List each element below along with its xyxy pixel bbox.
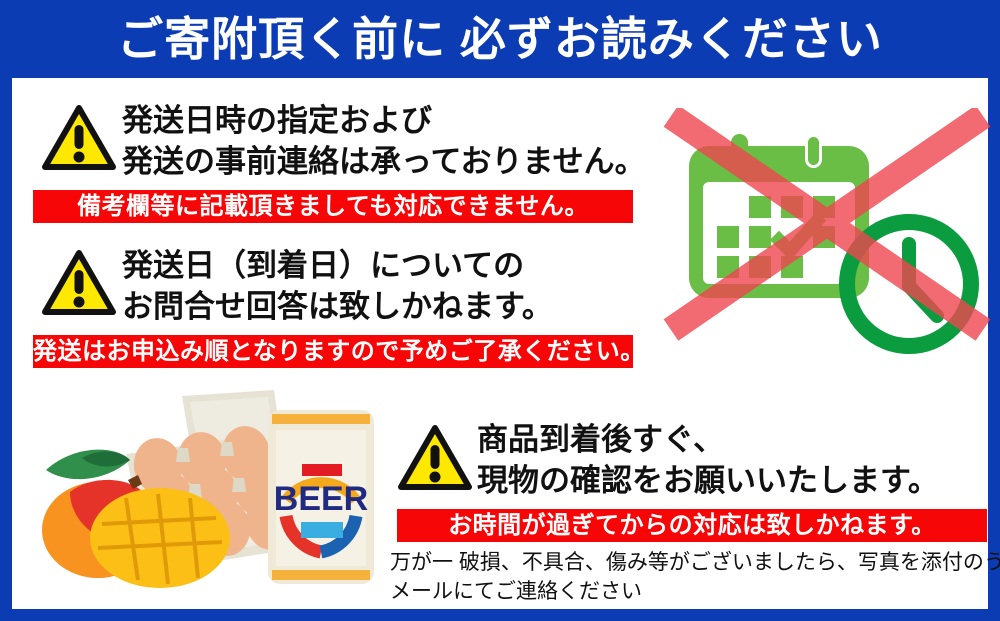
warning-line: お問合せ回答は致しかねます。 [122,286,553,327]
warning-text-shipping-date: 発送日時の指定および 発送の事前連絡は承っておりません。 [122,100,646,182]
warning-line: 発送日（到着日）についての [122,245,553,286]
notice-banner-page: ご寄附頂く前に 必ずお読みください 発送日時の指定および 発送の事前連絡は承って… [0,0,1000,621]
warning-text-check-on-arrival: 商品到着後すぐ、 現物の確認をお願いいたします。 [477,419,939,501]
warning-line: 現物の確認をお願いいたします。 [477,460,939,501]
warning-triangle-icon [42,105,116,171]
beer-can-label: BEER [274,480,368,518]
red-banner-arrival-inquiry: 発送はお申込み順となりますので予めご了承ください。 [33,335,633,368]
calendar-clock-prohibited-illustration [657,108,997,368]
content-panel: 発送日時の指定および 発送の事前連絡は承っておりません。 備考欄等に記載頂きまし… [12,78,988,609]
warning-block-shipping-date: 発送日時の指定および 発送の事前連絡は承っておりません。 備考欄等に記載頂きまし… [12,78,652,208]
red-banner-shipping-date: 備考欄等に記載頂きましても対応できません。 [33,190,633,223]
warning-block-arrival-inquiry: 発送日（到着日）についての お問合せ回答は致しかねます。 発送はお申込み順となり… [12,224,652,364]
warning-line: 発送日時の指定および [122,100,646,141]
warning-line: 商品到着後すぐ、 [477,419,939,460]
warning-triangle-icon [398,425,472,491]
note-line: 万が一 破損、不具合、傷み等がございましたら、写真を添付のうえ [390,548,1000,577]
warning-line: 発送の事前連絡は承っておりません。 [122,141,646,182]
note-text-damage-report: 万が一 破損、不具合、傷み等がございましたら、写真を添付のうえ メールにてご連絡… [390,548,1000,606]
warning-text-arrival-inquiry: 発送日（到着日）についての お問合せ回答は致しかねます。 [122,245,553,327]
page-title: ご寄附頂く前に 必ずお読みください [0,6,1000,72]
red-banner-check-on-arrival: お時間が過ぎてからの対応は致しかねます。 [397,509,987,542]
beer-can-icon: BEER [268,410,374,584]
warning-triangle-icon [42,250,116,316]
note-line: メールにてご連絡ください [390,577,1000,606]
header-bar: ご寄附頂く前に 必ずお読みください [0,0,1000,78]
warning-block-check-on-arrival: 商品到着後すぐ、 現物の確認をお願いいたします。 お時間が過ぎてからの対応は致し… [385,405,985,605]
goods-illustration: BEER [30,388,390,608]
